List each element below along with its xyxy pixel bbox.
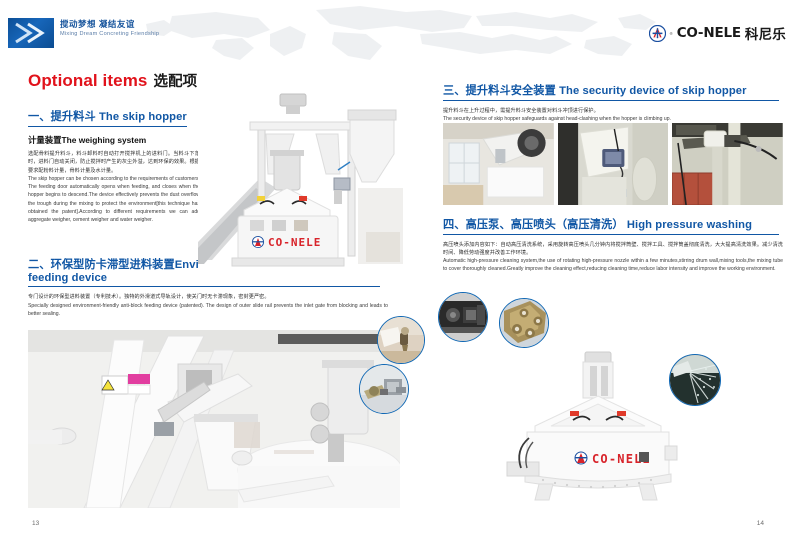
slogan-chinese: 搅动梦想 凝结友谊 — [60, 19, 159, 30]
section-3-heading-cn: 三、提升料斗安全装置 — [443, 85, 556, 97]
security-device-photo-1 — [443, 123, 554, 205]
high-pressure-washing-figure: CO-NELE — [443, 296, 783, 508]
section-3-heading: 三、提升料斗安全装置 The security device of skip h… — [443, 82, 779, 101]
page-number-right: 14 — [757, 520, 764, 527]
weighing-system-subheading: 计量装置The weighing system — [28, 134, 200, 146]
section-1-heading-en: The skip hopper — [99, 111, 187, 123]
section-4-heading-en: High pressure washing — [627, 219, 752, 231]
world-map-watermark — [120, 4, 680, 66]
security-device-photo-3 — [672, 123, 783, 205]
page-number-left: 13 — [32, 520, 39, 527]
callout-high-pressure-pump — [438, 292, 488, 342]
section-3-body-cn: 提升料斗在上升过程中，需提升料斗安全装置对料斗冲顶进行保护。 — [443, 107, 783, 115]
section-2-body-cn: 专门设计的环保型进料装置（专利技术）。独特的外滑道式导轨设计，使关门时无卡滞现象… — [28, 293, 388, 301]
callout-nozzle-mounted — [377, 316, 425, 364]
brand-name-chinese: 科尼乐 — [745, 23, 786, 43]
section-2-heading-cn: 二、环保型防卡滞型进料装置 — [28, 259, 175, 271]
slogan-english: Mixing Dream Concreting Friendship — [60, 31, 159, 38]
anti-block-feeding-device-photo — [28, 330, 400, 508]
callout-pump-valve-assembly — [359, 364, 409, 414]
security-device-photo-2 — [558, 123, 669, 205]
page-header: 搅动梦想 凝结友谊 Mixing Dream Concreting Friend… — [0, 0, 800, 68]
callout-rotating-nozzle-head — [499, 298, 549, 348]
skip-hopper-machine-photo: CO-NELE — [198, 92, 403, 277]
section-4-body-cn: 高压喷头添加内容如下：自动高压清洗系统，采用旋转高压喷头几分钟内将搅拌筒壁、搅拌… — [443, 241, 783, 258]
section-3-heading-en: The security device of skip hopper — [559, 85, 746, 97]
page-title: Optional items选配项 — [28, 70, 400, 91]
section-1-heading: 一、提升料斗 The skip hopper — [28, 108, 187, 127]
brochure-page-spread: 搅动梦想 凝结友谊 Mixing Dream Concreting Friend… — [0, 0, 800, 543]
section-4-body-en: Automatic high-pressure cleaning system,… — [443, 257, 783, 274]
section-1-heading-cn: 一、提升料斗 — [28, 111, 96, 123]
company-chevron-logo — [8, 18, 54, 48]
brand-name-latin: CO-NELE — [677, 25, 741, 41]
page-title-cn: 选配项 — [153, 74, 197, 90]
section-1-body-cn: 选配骨料提升料斗，料斗卸料时自动打开搅拌机上的进料门。当料斗下落时，进料门自动关… — [28, 150, 200, 175]
co-nele-mark-icon — [649, 25, 666, 42]
section-2-body-en: Specially designed environment-friendly … — [28, 302, 388, 319]
section-4-heading: 四、高压泵、高压喷头（高压清洗） High pressure washing — [443, 216, 779, 235]
section-1-body-en: The skip hopper can be chosen according … — [28, 175, 200, 225]
section-4-heading-cn: 四、高压泵、高压喷头（高压清洗） — [443, 219, 624, 231]
company-slogan: 搅动梦想 凝结友谊 Mixing Dream Concreting Friend… — [60, 19, 159, 38]
brand-logo: ® CO-NELE 科尼乐 — [649, 23, 786, 43]
registered-mark: ® — [670, 31, 673, 36]
svg-text:CO-NELE: CO-NELE — [268, 236, 321, 249]
security-device-photo-row — [443, 123, 783, 205]
page-title-en: Optional items — [28, 71, 147, 90]
callout-water-spray — [669, 354, 721, 406]
